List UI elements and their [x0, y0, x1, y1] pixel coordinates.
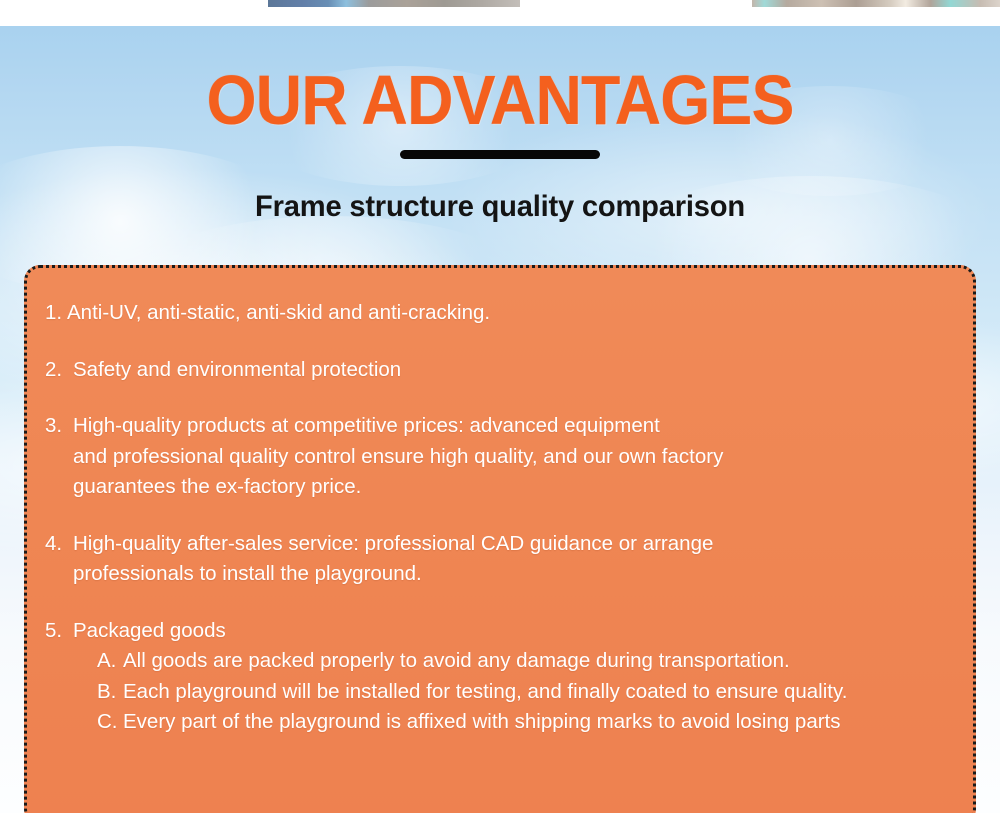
top-cropped-images-strip	[0, 0, 1000, 26]
advantage-number: 4.	[45, 529, 73, 560]
advantage-line: guarantees the ex-factory price.	[73, 472, 949, 503]
advantage-line: Packaged goods	[73, 616, 949, 647]
advantage-number: 3.	[45, 411, 73, 442]
advantage-item: 2.Safety and environmental protection	[45, 355, 949, 386]
advantage-item: 3.High-quality products at competitive p…	[45, 411, 949, 503]
cropped-image-left	[268, 0, 520, 7]
advantage-sub-text: All goods are packed properly to avoid a…	[123, 646, 949, 677]
advantage-number: 5.	[45, 616, 73, 647]
advantage-item: 4.High-quality after-sales service: prof…	[45, 529, 949, 590]
advantage-line: professionals to install the playground.	[73, 559, 949, 590]
advantage-line: Anti-UV, anti-static, anti-skid and anti…	[67, 298, 949, 329]
advantage-number: 1.	[45, 298, 67, 329]
advantage-line: Safety and environmental protection	[73, 355, 949, 386]
advantage-sub-text: Each playground will be installed for te…	[123, 677, 949, 708]
advantage-body: Anti-UV, anti-static, anti-skid and anti…	[67, 298, 949, 329]
page-title: OUR ADVANTAGES	[40, 62, 960, 138]
advantage-body: Packaged goodsA.All goods are packed pro…	[73, 616, 949, 738]
promo-page: OUR ADVANTAGES Frame structure quality c…	[0, 0, 1000, 813]
advantage-item: 5.Packaged goodsA.All goods are packed p…	[45, 616, 949, 738]
advantage-sub-item: A.All goods are packed properly to avoid…	[97, 646, 949, 677]
advantages-panel: 1.Anti-UV, anti-static, anti-skid and an…	[24, 265, 976, 813]
advantage-sub-letter: C.	[97, 707, 123, 738]
advantage-sub-item: B.Each playground will be installed for …	[97, 677, 949, 708]
cropped-image-right	[752, 0, 1000, 7]
page-subtitle: Frame structure quality comparison	[15, 189, 985, 225]
advantage-sub-item: C.Every part of the playground is affixe…	[97, 707, 949, 738]
advantage-sub-letter: B.	[97, 677, 123, 708]
advantage-sub-letter: A.	[97, 646, 123, 677]
advantage-sub-list: A.All goods are packed properly to avoid…	[73, 646, 949, 738]
advantage-sub-text: Every part of the playground is affixed …	[123, 707, 949, 738]
advantage-body: High-quality after-sales service: profes…	[73, 529, 949, 590]
title-divider-rule	[400, 150, 600, 159]
advantage-body: Safety and environmental protection	[73, 355, 949, 386]
advantage-item: 1.Anti-UV, anti-static, anti-skid and an…	[45, 298, 949, 329]
advantage-line: High-quality after-sales service: profes…	[73, 529, 949, 560]
advantage-line: and professional quality control ensure …	[73, 442, 949, 473]
advantage-line: High-quality products at competitive pri…	[73, 411, 949, 442]
advantages-list: 1.Anti-UV, anti-static, anti-skid and an…	[45, 298, 949, 738]
advantage-number: 2.	[45, 355, 73, 386]
advantage-body: High-quality products at competitive pri…	[73, 411, 949, 503]
heading-block: OUR ADVANTAGES Frame structure quality c…	[0, 26, 1000, 225]
